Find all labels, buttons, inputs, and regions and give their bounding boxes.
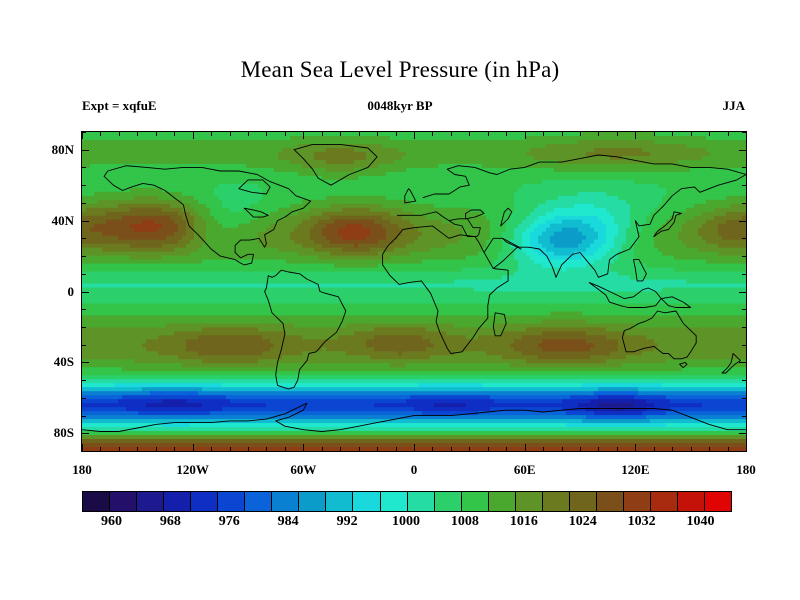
x-tick	[377, 132, 378, 136]
x-tick	[414, 444, 415, 451]
y-tick	[82, 274, 86, 275]
y-tick	[742, 256, 746, 257]
colorbar-swatch	[408, 492, 435, 511]
y-tick	[82, 416, 86, 417]
y-axis-label: 40S	[54, 354, 74, 370]
x-tick	[451, 447, 452, 451]
x-tick	[174, 447, 175, 451]
x-tick	[100, 132, 101, 136]
page-title: Mean Sea Level Pressure (in hPa)	[0, 57, 800, 83]
colorbar-swatch	[164, 492, 191, 511]
x-axis-label: 180	[72, 462, 92, 478]
x-tick	[230, 447, 231, 451]
y-tick	[742, 345, 746, 346]
colorbar-tick-label: 968	[160, 514, 181, 530]
x-axis-label: 60E	[514, 462, 536, 478]
y-tick	[82, 398, 86, 399]
y-tick	[742, 451, 746, 452]
colorbar-swatch	[435, 492, 462, 511]
x-tick	[137, 132, 138, 136]
x-tick	[119, 447, 120, 451]
y-tick	[739, 433, 746, 434]
season-label: JJA	[723, 98, 745, 114]
colorbar-tick-label: 960	[101, 514, 122, 530]
colorbar-swatch	[543, 492, 570, 511]
x-tick	[340, 447, 341, 451]
x-tick	[746, 444, 747, 451]
colorbar-tick-label: 1000	[392, 514, 420, 530]
x-tick	[82, 132, 83, 139]
y-tick	[742, 185, 746, 186]
colorbar-tick-label: 1040	[687, 514, 715, 530]
colorbar-swatch	[678, 492, 705, 511]
x-tick	[709, 132, 710, 136]
x-tick	[322, 132, 323, 136]
colorbar-tick-label: 1032	[628, 514, 656, 530]
x-tick	[230, 132, 231, 136]
x-tick	[377, 447, 378, 451]
colorbar-swatch	[299, 492, 326, 511]
y-axis-label: 80S	[54, 425, 74, 441]
y-tick	[742, 327, 746, 328]
colorbar-swatch	[218, 492, 245, 511]
x-tick	[506, 447, 507, 451]
x-tick	[266, 447, 267, 451]
x-tick	[617, 447, 618, 451]
colorbar-swatch	[272, 492, 299, 511]
x-tick	[156, 447, 157, 451]
y-tick	[739, 362, 746, 363]
x-tick	[156, 132, 157, 136]
x-tick	[654, 132, 655, 136]
colorbar-swatch	[326, 492, 353, 511]
x-tick	[303, 132, 304, 139]
y-tick	[739, 221, 746, 222]
x-axis-label: 180	[736, 462, 756, 478]
colorbar-swatch	[83, 492, 110, 511]
colorbar-swatch	[624, 492, 651, 511]
colorbar-tick-label: 976	[219, 514, 240, 530]
y-tick	[82, 238, 86, 239]
colorbar-swatch	[516, 492, 543, 511]
y-tick	[742, 132, 746, 133]
x-tick	[506, 132, 507, 136]
y-tick	[82, 292, 89, 293]
x-tick	[746, 132, 747, 139]
x-tick	[211, 132, 212, 136]
x-tick	[340, 132, 341, 136]
x-tick	[691, 132, 692, 136]
colorbar-swatch	[489, 492, 516, 511]
y-tick	[82, 433, 89, 434]
x-tick	[617, 132, 618, 136]
y-tick	[82, 345, 86, 346]
x-tick	[469, 447, 470, 451]
y-tick	[742, 274, 746, 275]
y-tick	[742, 416, 746, 417]
x-axis-label: 120E	[621, 462, 649, 478]
y-tick	[742, 380, 746, 381]
y-tick	[82, 327, 86, 328]
x-tick	[598, 132, 599, 136]
y-tick	[742, 398, 746, 399]
x-tick	[598, 447, 599, 451]
x-tick	[432, 447, 433, 451]
y-tick	[82, 362, 89, 363]
x-axis-label: 0	[411, 462, 418, 478]
map-plot-area	[81, 131, 747, 452]
x-tick	[137, 447, 138, 451]
y-tick	[742, 238, 746, 239]
x-tick	[285, 447, 286, 451]
y-tick	[739, 150, 746, 151]
colorbar-swatch	[191, 492, 218, 511]
y-axis-label: 80N	[52, 142, 74, 158]
y-tick	[82, 132, 86, 133]
colorbar-swatch	[245, 492, 272, 511]
x-tick	[119, 132, 120, 136]
x-tick	[728, 447, 729, 451]
colorbar-labels: 960968976984992100010081016102410321040	[0, 514, 800, 536]
x-tick	[432, 132, 433, 136]
colorbar-tick-label: 992	[337, 514, 358, 530]
x-tick	[543, 447, 544, 451]
y-tick	[742, 309, 746, 310]
colorbar-swatch	[353, 492, 380, 511]
colorbar-swatch	[651, 492, 678, 511]
y-tick	[742, 167, 746, 168]
figure-canvas: Mean Sea Level Pressure (in hPa) 0048kyr…	[0, 0, 800, 600]
colorbar-swatch	[381, 492, 408, 511]
colorbar	[82, 491, 732, 512]
x-tick	[672, 447, 673, 451]
x-tick	[303, 444, 304, 451]
colorbar-swatch	[705, 492, 731, 511]
experiment-label: Expt = xqfuE	[82, 98, 157, 114]
y-tick	[742, 203, 746, 204]
x-tick	[248, 447, 249, 451]
x-tick	[285, 132, 286, 136]
x-tick	[396, 447, 397, 451]
x-tick	[193, 132, 194, 139]
y-tick	[82, 167, 86, 168]
y-tick	[82, 185, 86, 186]
x-tick	[100, 447, 101, 451]
colorbar-swatch	[597, 492, 624, 511]
y-tick	[82, 451, 86, 452]
y-tick	[82, 203, 86, 204]
x-tick	[543, 132, 544, 136]
x-tick	[193, 444, 194, 451]
x-tick	[359, 447, 360, 451]
x-tick	[525, 132, 526, 139]
y-tick	[82, 150, 89, 151]
y-tick	[739, 292, 746, 293]
x-axis-label: 120W	[176, 462, 209, 478]
colorbar-tick-label: 1024	[569, 514, 597, 530]
x-tick	[211, 447, 212, 451]
x-tick	[691, 447, 692, 451]
colorbar-swatch	[570, 492, 597, 511]
x-tick	[580, 132, 581, 136]
x-tick	[562, 132, 563, 136]
x-tick	[728, 132, 729, 136]
colorbar-swatch	[137, 492, 164, 511]
x-tick	[174, 132, 175, 136]
x-tick	[322, 447, 323, 451]
x-tick	[488, 447, 489, 451]
x-tick	[580, 447, 581, 451]
x-tick	[672, 132, 673, 136]
colorbar-swatch	[462, 492, 489, 511]
pressure-contour-field	[82, 132, 746, 451]
x-tick	[635, 444, 636, 451]
x-tick	[635, 132, 636, 139]
x-tick	[525, 444, 526, 451]
x-tick	[266, 132, 267, 136]
y-tick	[82, 256, 86, 257]
x-tick	[488, 132, 489, 136]
x-tick	[469, 132, 470, 136]
y-tick	[82, 309, 86, 310]
x-tick	[396, 132, 397, 136]
x-tick	[451, 132, 452, 136]
colorbar-tick-label: 1008	[451, 514, 479, 530]
y-tick	[82, 380, 86, 381]
y-axis-label: 40N	[52, 213, 74, 229]
x-tick	[359, 132, 360, 136]
x-tick	[562, 447, 563, 451]
x-tick	[414, 132, 415, 139]
y-axis-label: 0	[68, 284, 75, 300]
x-tick	[709, 447, 710, 451]
y-tick	[82, 221, 89, 222]
x-tick	[654, 447, 655, 451]
x-tick	[82, 444, 83, 451]
x-tick	[248, 132, 249, 136]
colorbar-swatch	[110, 492, 137, 511]
x-axis-label: 60W	[290, 462, 316, 478]
colorbar-tick-label: 984	[278, 514, 299, 530]
colorbar-tick-label: 1016	[510, 514, 538, 530]
